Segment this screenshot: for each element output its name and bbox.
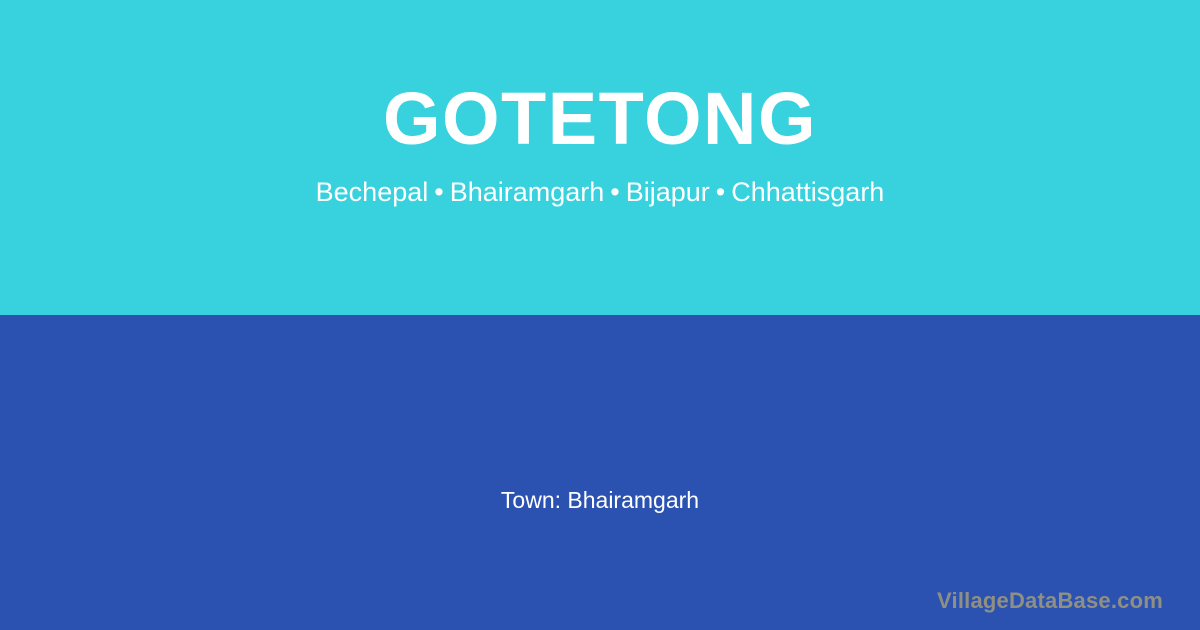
breadcrumb-item-state: Chhattisgarh [731, 177, 884, 207]
breadcrumb-separator: • [428, 177, 449, 207]
page-title: GOTETONG [383, 78, 817, 160]
breadcrumb-item-block: Bhairamgarh [450, 177, 605, 207]
town-label: Town: Bhairamgarh [0, 485, 1200, 515]
breadcrumb: Bechepal•Bhairamgarh•Bijapur•Chhattisgar… [316, 160, 885, 208]
breadcrumb-item-village: Bechepal [316, 177, 429, 207]
breadcrumb-separator: • [710, 177, 731, 207]
site-watermark: VillageDataBase.com [937, 588, 1163, 614]
detail-panel: Town: Bhairamgarh VillageDataBase.com [0, 315, 1200, 630]
village-info-card: GOTETONG Bechepal•Bhairamgarh•Bijapur•Ch… [0, 0, 1200, 630]
breadcrumb-separator: • [604, 177, 625, 207]
hero-banner: GOTETONG Bechepal•Bhairamgarh•Bijapur•Ch… [0, 0, 1200, 315]
breadcrumb-item-district: Bijapur [626, 177, 710, 207]
